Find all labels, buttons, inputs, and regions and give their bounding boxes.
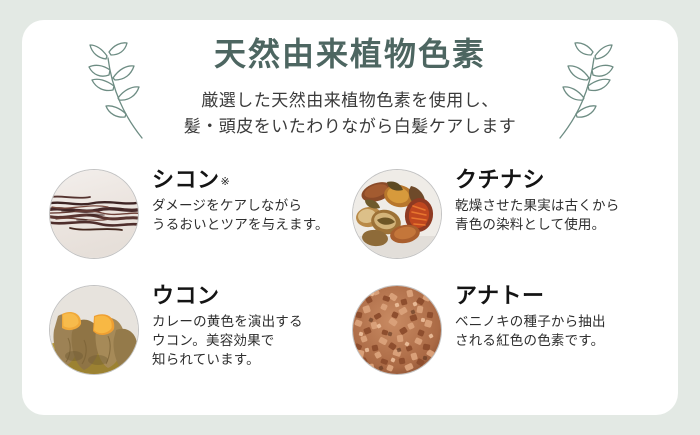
- desc-line-2: ウコン。美容効果で: [152, 331, 355, 350]
- ingredient-text-kuchinashi: クチナシ 乾燥させた果実は古くから 青色の染料として使用。: [441, 166, 658, 234]
- ingredient-item-anatto: アナトー ベニノキの種子から抽出 される紅色の色素です。: [353, 282, 658, 400]
- ingredient-description: カレーの黄色を演出する ウコン。美容効果で 知られています。: [152, 312, 355, 369]
- desc-line-1: カレーの黄色を演出する: [152, 312, 355, 331]
- page-subtitle: 厳選した天然由来植物色素を使用し、 髪・頭皮をいたわりながら白髪ケアします: [22, 88, 678, 141]
- subtitle-line-2: 髪・頭皮をいたわりながら白髪ケアします: [22, 114, 678, 140]
- ingredient-description: ダメージをケアしながら うるおいとツアを与えます。: [152, 196, 355, 234]
- asterisk-mark: ※: [221, 176, 231, 188]
- ingredient-text-shikon: シコン※ ダメージをケアしながら うるおいとツアを与えます。: [138, 166, 355, 234]
- ingredient-name: ウコン: [152, 284, 355, 309]
- content-card: 天然由来植物色素 厳選した天然由来植物色素を使用し、 髪・頭皮をいたわりながら白…: [22, 20, 678, 415]
- ingredient-item-shikon: シコン※ ダメージをケアしながら うるおいとツアを与えます。: [50, 166, 355, 284]
- kuchinashi-fruit-photo: [353, 170, 441, 258]
- desc-line-2: される紅色の色素です。: [455, 331, 658, 350]
- ukon-turmeric-photo: [50, 286, 138, 374]
- desc-line-3: 知られています。: [152, 350, 355, 369]
- ingredient-name: シコン※: [152, 168, 355, 193]
- ingredient-item-ukon: ウコン カレーの黄色を演出する ウコン。美容効果で 知られています。: [50, 282, 355, 400]
- desc-line-1: ダメージをケアしながら: [152, 196, 355, 215]
- desc-line-2: 青色の染料として使用。: [455, 215, 658, 234]
- ingredient-text-anatto: アナトー ベニノキの種子から抽出 される紅色の色素です。: [441, 282, 658, 350]
- desc-line-2: うるおいとツアを与えます。: [152, 215, 355, 234]
- subtitle-line-1: 厳選した天然由来植物色素を使用し、: [22, 88, 678, 114]
- page-title: 天然由来植物色素: [22, 38, 678, 70]
- ingredient-description: 乾燥させた果実は古くから 青色の染料として使用。: [455, 196, 658, 234]
- ingredient-item-kuchinashi: クチナシ 乾燥させた果実は古くから 青色の染料として使用。: [353, 166, 658, 284]
- ingredient-description: ベニノキの種子から抽出 される紅色の色素です。: [455, 312, 658, 350]
- ingredient-grid: シコン※ ダメージをケアしながら うるおいとツアを与えます。: [22, 162, 678, 415]
- ingredient-name: アナトー: [455, 284, 658, 309]
- ingredient-text-ukon: ウコン カレーの黄色を演出する ウコン。美容効果で 知られています。: [138, 282, 355, 369]
- ingredient-name: クチナシ: [455, 168, 658, 193]
- desc-line-1: 乾燥させた果実は古くから: [455, 196, 658, 215]
- header: 天然由来植物色素 厳選した天然由来植物色素を使用し、 髪・頭皮をいたわりながら白…: [22, 20, 678, 155]
- desc-line-1: ベニノキの種子から抽出: [455, 312, 658, 331]
- shikon-root-photo: [50, 170, 138, 258]
- anatto-seeds-photo: [353, 286, 441, 374]
